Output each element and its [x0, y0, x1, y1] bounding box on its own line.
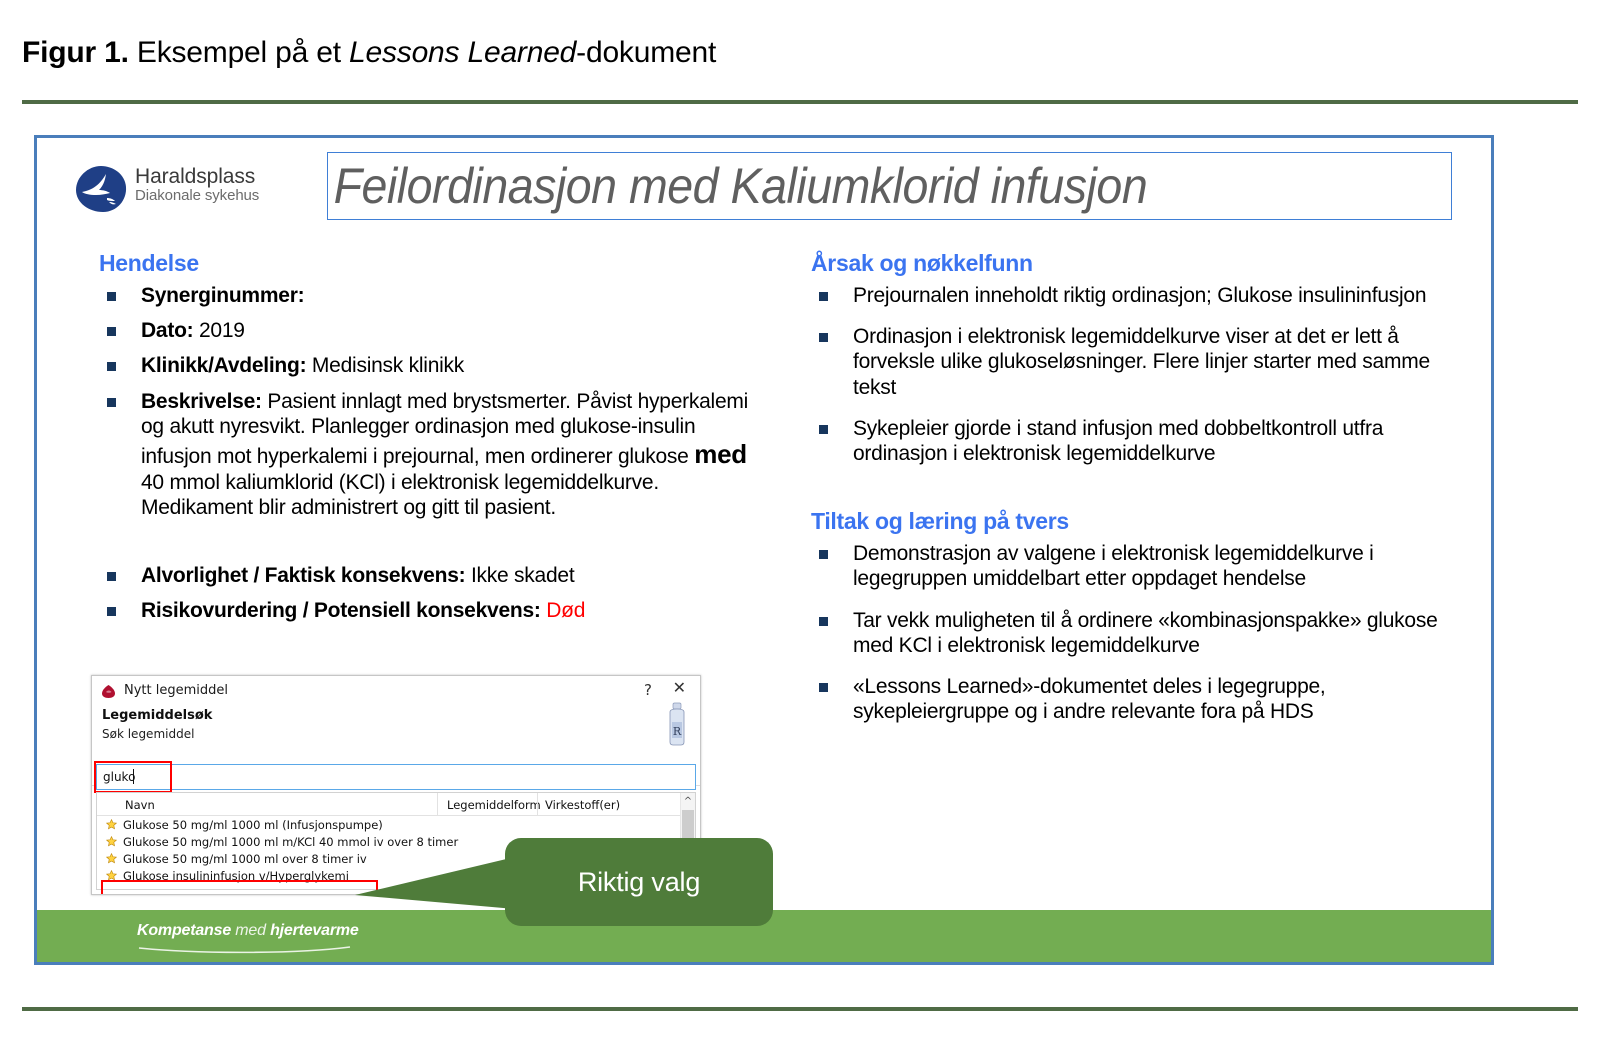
svg-text:R: R	[673, 725, 682, 738]
logo-wordmark: Haraldsplass Diakonale sykehus	[135, 166, 259, 205]
slide-title-box: Feilordinasjon med Kaliumklorid infusjon	[327, 152, 1452, 220]
slogan-part1: Kompetanse	[137, 922, 231, 939]
figure-caption: Figur 1. Eksempel på et Lessons Learned-…	[22, 36, 716, 70]
close-icon[interactable]: ✕	[673, 680, 686, 696]
dialog-section-heading: Legemiddelsøk	[102, 708, 212, 723]
help-icon[interactable]: ?	[644, 681, 652, 699]
list-item: «Lessons Learned»-dokumentet deles i leg…	[807, 674, 1457, 724]
bullet-label: Beskrivelse:	[141, 390, 262, 413]
figure-caption-italic: Lessons Learned	[349, 36, 576, 69]
column-header-legemiddelform[interactable]: Legemiddelform	[447, 798, 541, 812]
riktig-valg-callout: Riktig valg	[505, 838, 773, 926]
figure-caption-plain: Eksempel på et	[129, 36, 349, 69]
correct-choice-highlight-box	[101, 880, 378, 895]
table-cell-navn: Glukose 50 mg/ml 1000 ml m/KCl 40 mmol i…	[123, 835, 458, 849]
slide-title: Feilordinasjon med Kaliumklorid infusjon	[328, 157, 1147, 215]
column-header-virkestoff[interactable]: Virkestoff(er)	[545, 798, 620, 812]
callout-tail	[355, 851, 515, 913]
bullet-value-part2: 40 mmol kaliumklorid (KCl) i elektronisk…	[141, 471, 659, 519]
bullet-label: Klinikk/Avdeling:	[141, 354, 306, 377]
bullet-label: Dato:	[141, 319, 193, 342]
section-heading-hendelse: Hendelse	[99, 250, 765, 277]
favorite-star-icon[interactable]	[106, 836, 117, 847]
slogan-part2: med	[231, 922, 270, 939]
list-item: Beskrivelse: Pasient innlagt med brystsm…	[95, 389, 765, 521]
list-item: Tar vekk muligheten til å ordinere «komb…	[807, 608, 1457, 658]
search-highlight-box	[94, 761, 172, 793]
dialog-subheader: Legemiddelsøk Søk legemiddel R	[92, 706, 700, 754]
section-heading-arsak: Årsak og nøkkelfunn	[811, 250, 1457, 277]
bottom-divider	[22, 1007, 1578, 1011]
footer-slogan: Kompetanse med hjertevarme	[137, 922, 359, 940]
arsak-bullet-list: Prejournalen inneholdt riktig ordinasjon…	[807, 283, 1457, 466]
column-header-navn[interactable]: Navn	[125, 798, 155, 812]
favorite-star-icon[interactable]	[106, 853, 117, 864]
list-item: Dato: 2019	[95, 318, 765, 343]
dialog-titlebar: Nytt legemiddel ? ✕	[92, 676, 700, 706]
list-item: Risikovurdering / Potensiell konsekvens:…	[95, 598, 765, 623]
scroll-up-icon[interactable]: ^	[682, 795, 694, 808]
logo-subtitle: Diakonale sykehus	[135, 188, 259, 205]
status-badge-risk: Død	[541, 599, 586, 622]
left-column: Hendelse Synerginummer: Dato: 2019 Klini…	[95, 250, 765, 633]
figure-label: Figur 1.	[22, 36, 129, 69]
bullet-label: Alvorlighet / Faktisk konsekvens:	[141, 564, 465, 587]
dialog-section-subtitle: Søk legemiddel	[102, 727, 194, 741]
section-heading-tiltak: Tiltak og læring på tvers	[811, 508, 1457, 535]
dialog-title: Nytt legemiddel	[124, 683, 228, 698]
table-row[interactable]: Glukose 50 mg/ml 1000 ml (Infusjonspumpe…	[97, 816, 695, 833]
top-divider	[22, 100, 1578, 104]
lessons-learned-slide: Haraldsplass Diakonale sykehus Feilordin…	[34, 135, 1494, 965]
search-input[interactable]: gluko	[96, 764, 696, 790]
bullet-value: 2019	[193, 319, 244, 342]
bullet-label: Synerginummer:	[141, 284, 304, 307]
list-item: Demonstrasjon av valgene i elektronisk l…	[807, 541, 1457, 591]
figure-caption-tail: -dokument	[576, 36, 716, 69]
right-column: Årsak og nøkkelfunn Prejournalen innehol…	[807, 250, 1457, 740]
list-item: Klinikk/Avdeling: Medisinsk klinikk	[95, 353, 765, 378]
bullet-value: Ikke skadet	[465, 564, 574, 587]
table-cell-navn: Glukose 50 mg/ml 1000 ml over 8 timer iv	[123, 852, 367, 866]
app-icon	[101, 684, 116, 699]
tiltak-bullet-list: Demonstrasjon av valgene i elektronisk l…	[807, 541, 1457, 724]
list-item: Sykepleier gjorde i stand infusjon med d…	[807, 416, 1457, 466]
search-row: gluko	[96, 764, 696, 790]
dove-logo-icon	[73, 164, 129, 214]
logo-name: Haraldsplass	[135, 166, 259, 188]
rx-bottle-icon: R	[666, 702, 688, 746]
list-item: Synerginummer:	[95, 283, 765, 308]
list-item: Ordinasjon i elektronisk legemiddelkurve…	[807, 324, 1457, 400]
scrollbar-thumb[interactable]	[682, 810, 694, 840]
callout-label: Riktig valg	[505, 838, 773, 926]
table-header-row: Navn Legemiddelform Virkestoff(er)	[97, 793, 695, 816]
bullet-label: Risikovurdering / Potensiell konsekvens:	[141, 599, 541, 622]
bullet-emphasis: med	[694, 439, 747, 469]
favorite-star-icon[interactable]	[106, 819, 117, 830]
bullet-value: Medisinsk klinikk	[306, 354, 464, 377]
list-item: Prejournalen inneholdt riktig ordinasjon…	[807, 283, 1457, 308]
hospital-logo: Haraldsplass Diakonale sykehus	[73, 160, 303, 220]
list-item: Alvorlighet / Faktisk konsekvens: Ikke s…	[95, 563, 765, 588]
table-cell-navn: Glukose 50 mg/ml 1000 ml (Infusjonspumpe…	[123, 818, 383, 832]
slogan-part3: hjertevarme	[270, 922, 359, 939]
hendelse-bullet-list: Synerginummer: Dato: 2019 Klinikk/Avdeli…	[95, 283, 765, 521]
swoosh-icon	[137, 944, 352, 954]
konsekvens-bullet-list: Alvorlighet / Faktisk konsekvens: Ikke s…	[95, 563, 765, 623]
